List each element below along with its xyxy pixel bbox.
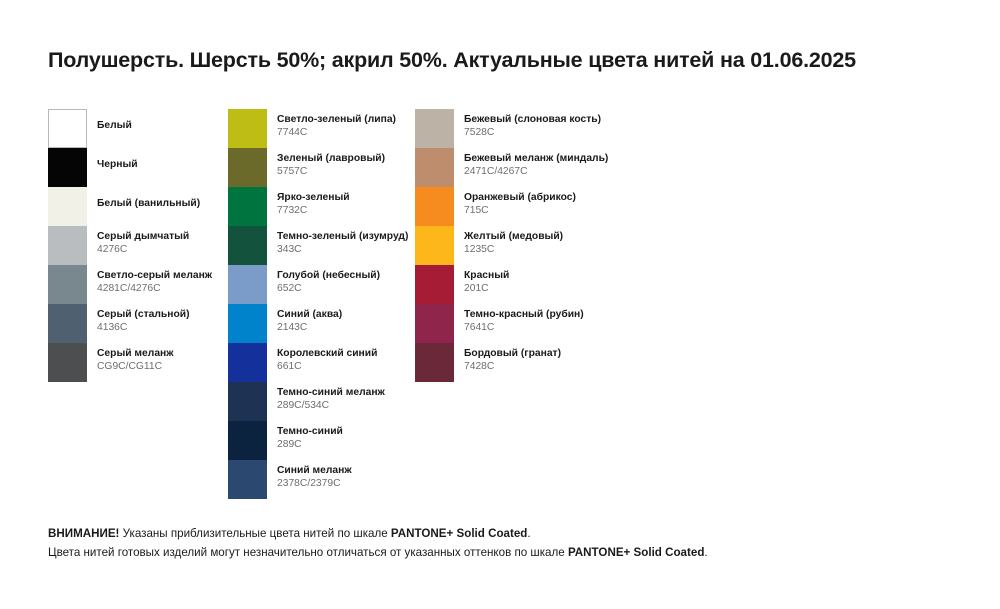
swatch-text: Темно-синий289C [277, 425, 427, 451]
swatch-row[interactable]: Королевский синий661C [228, 343, 418, 382]
page-title: Полушерсть. Шерсть 50%; акрил 50%. Актуа… [48, 48, 968, 73]
swatch-row[interactable]: Синий (аква)2143C [228, 304, 418, 343]
swatch-chip[interactable] [415, 343, 454, 382]
swatch-row[interactable]: Синий меланж2378C/2379C [228, 460, 418, 499]
swatch-pantone-code: 2143C [277, 321, 427, 334]
swatch-name: Ярко-зеленый [277, 191, 427, 204]
swatch-chip[interactable] [48, 343, 87, 382]
swatch-text: Серый меланжCG9C/CG11C [97, 347, 247, 373]
swatch-pantone-code: 2471C/4267C [464, 165, 614, 178]
swatch-text: Белый [97, 113, 247, 132]
swatch-name: Серый (стальной) [97, 308, 247, 321]
swatch-name: Бордовый (гранат) [464, 347, 614, 360]
swatch-column-greens-blues: Светло-зеленый (липа)7744CЗеленый (лавро… [228, 109, 418, 499]
swatch-name: Темно-зеленый (изумруд) [277, 230, 427, 243]
swatch-text: Ярко-зеленый7732C [277, 191, 427, 217]
swatch-name: Королевский синий [277, 347, 427, 360]
swatch-text: Красный201C [464, 269, 614, 295]
swatch-chip[interactable] [228, 304, 267, 343]
swatch-pantone-code: 7641C [464, 321, 614, 334]
swatch-row[interactable]: Голубой (небесный)652C [228, 265, 418, 304]
swatch-text: Серый дымчатый4276C [97, 230, 247, 256]
swatch-chip[interactable] [228, 226, 267, 265]
swatch-text: Бежевый (слоновая кость)7528C [464, 113, 614, 139]
swatch-text: Темно-красный (рубин)7641C [464, 308, 614, 334]
swatch-chip[interactable] [415, 187, 454, 226]
swatch-name: Светло-серый меланж [97, 269, 247, 282]
swatch-row[interactable]: Темно-синий меланж289C/534C [228, 382, 418, 421]
swatch-name: Синий меланж [277, 464, 427, 477]
swatch-chip[interactable] [415, 226, 454, 265]
swatch-name: Бежевый (слоновая кость) [464, 113, 614, 126]
swatch-text: Синий меланж2378C/2379C [277, 464, 427, 490]
swatch-name: Бежевый меланж (миндаль) [464, 152, 614, 165]
swatch-row[interactable]: Бежевый (слоновая кость)7528C [415, 109, 615, 148]
swatch-chip[interactable] [228, 460, 267, 499]
swatch-row[interactable]: Темно-синий289C [228, 421, 418, 460]
swatch-pantone-code: 4281C/4276C [97, 282, 247, 295]
swatch-row[interactable]: Ярко-зеленый7732C [228, 187, 418, 226]
swatch-chip[interactable] [48, 226, 87, 265]
swatch-row[interactable]: Темно-красный (рубин)7641C [415, 304, 615, 343]
swatch-text: Белый (ванильный) [97, 191, 247, 210]
swatch-name: Темно-синий меланж [277, 386, 427, 399]
swatch-chip[interactable] [48, 109, 87, 148]
swatch-pantone-code: 4276C [97, 243, 247, 256]
swatch-pantone-code: 289C/534C [277, 399, 427, 412]
swatch-chip[interactable] [48, 148, 87, 187]
swatch-chip[interactable] [228, 109, 267, 148]
swatch-row[interactable]: Зеленый (лавровый)5757C [228, 148, 418, 187]
swatch-name: Белый [97, 113, 247, 132]
swatch-text: Голубой (небесный)652C [277, 269, 427, 295]
swatch-chip[interactable] [48, 187, 87, 226]
swatch-row[interactable]: Белый [48, 109, 233, 148]
swatch-text: Оранжевый (абрикос)715C [464, 191, 614, 217]
swatch-pantone-code: 652C [277, 282, 427, 295]
swatch-chip[interactable] [415, 109, 454, 148]
swatch-row[interactable]: Бордовый (гранат)7428C [415, 343, 615, 382]
swatch-name: Зеленый (лавровый) [277, 152, 427, 165]
swatch-text: Темно-синий меланж289C/534C [277, 386, 427, 412]
swatch-name: Светло-зеленый (липа) [277, 113, 427, 126]
swatch-name: Серый дымчатый [97, 230, 247, 243]
swatch-pantone-code: 7428C [464, 360, 614, 373]
swatch-chip[interactable] [228, 382, 267, 421]
swatch-chip[interactable] [228, 343, 267, 382]
swatch-chip[interactable] [415, 265, 454, 304]
swatch-row[interactable]: Бежевый меланж (миндаль)2471C/4267C [415, 148, 615, 187]
swatch-text: Желтый (медовый)1235C [464, 230, 614, 256]
color-chart-page: Полушерсть. Шерсть 50%; акрил 50%. Актуа… [0, 0, 1000, 609]
swatch-text: Синий (аква)2143C [277, 308, 427, 334]
footer-line-1-text: Указаны приблизительные цвета нитей по ш… [119, 527, 390, 540]
swatch-pantone-code: 7528C [464, 126, 614, 139]
swatch-chip[interactable] [48, 304, 87, 343]
swatch-chip[interactable] [415, 148, 454, 187]
swatch-text: Королевский синий661C [277, 347, 427, 373]
swatch-name: Голубой (небесный) [277, 269, 427, 282]
footer-line-1-tail: . [527, 527, 530, 540]
swatch-chip[interactable] [228, 265, 267, 304]
swatch-text: Светло-зеленый (липа)7744C [277, 113, 427, 139]
swatch-row[interactable]: Серый меланжCG9C/CG11C [48, 343, 233, 382]
swatch-pantone-code: 5757C [277, 165, 427, 178]
swatch-text: Зеленый (лавровый)5757C [277, 152, 427, 178]
swatch-pantone-code: 1235C [464, 243, 614, 256]
footer-disclaimer: ВНИМАНИЕ! Указаны приблизительные цвета … [48, 524, 958, 562]
footer-line-2-text: Цвета нитей готовых изделий могут незнач… [48, 546, 568, 559]
swatch-pantone-code: 7744C [277, 126, 427, 139]
swatch-pantone-code: 715C [464, 204, 614, 217]
swatch-chip[interactable] [415, 304, 454, 343]
swatch-pantone-code: 7732C [277, 204, 427, 217]
swatch-text: Серый (стальной)4136C [97, 308, 247, 334]
swatch-text: Светло-серый меланж4281C/4276C [97, 269, 247, 295]
swatch-pantone-code: 2378C/2379C [277, 477, 427, 490]
swatch-row[interactable]: Серый дымчатый4276C [48, 226, 233, 265]
footer-line-1: ВНИМАНИЕ! Указаны приблизительные цвета … [48, 524, 958, 543]
swatch-name: Темно-синий [277, 425, 427, 438]
footer-line-2-tail: . [704, 546, 707, 559]
swatch-name: Желтый (медовый) [464, 230, 614, 243]
swatch-chip[interactable] [48, 265, 87, 304]
swatch-chip[interactable] [228, 421, 267, 460]
swatch-column-warm-reds: Бежевый (слоновая кость)7528CБежевый мел… [415, 109, 615, 382]
swatch-name: Черный [97, 152, 247, 171]
pantone-brand-2: PANTONE+ Solid Coated [568, 546, 704, 559]
pantone-brand-1: PANTONE+ Solid Coated [391, 527, 527, 540]
swatch-text: Бежевый меланж (миндаль)2471C/4267C [464, 152, 614, 178]
swatch-pantone-code: 201C [464, 282, 614, 295]
swatch-name: Серый меланж [97, 347, 247, 360]
swatch-row[interactable]: Светло-серый меланж4281C/4276C [48, 265, 233, 304]
swatch-pantone-code: 4136C [97, 321, 247, 334]
swatch-row[interactable]: Темно-зеленый (изумруд)343C [228, 226, 418, 265]
swatch-name: Оранжевый (абрикос) [464, 191, 614, 204]
swatch-chip[interactable] [228, 148, 267, 187]
swatch-text: Черный [97, 152, 247, 171]
swatch-name: Красный [464, 269, 614, 282]
swatch-pantone-code: CG9C/CG11C [97, 360, 247, 373]
swatch-text: Бордовый (гранат)7428C [464, 347, 614, 373]
swatch-pantone-code: 343C [277, 243, 427, 256]
swatch-row[interactable]: Красный201C [415, 265, 615, 304]
swatch-row[interactable]: Серый (стальной)4136C [48, 304, 233, 343]
swatch-row[interactable]: Светло-зеленый (липа)7744C [228, 109, 418, 148]
attention-label: ВНИМАНИЕ! [48, 527, 119, 540]
swatch-chip[interactable] [228, 187, 267, 226]
swatch-pantone-code: 289C [277, 438, 427, 451]
swatch-row[interactable]: Оранжевый (абрикос)715C [415, 187, 615, 226]
swatch-text: Темно-зеленый (изумруд)343C [277, 230, 427, 256]
swatch-name: Белый (ванильный) [97, 191, 247, 210]
swatch-column-neutrals: БелыйЧерныйБелый (ванильный)Серый дымчат… [48, 109, 233, 382]
swatch-name: Темно-красный (рубин) [464, 308, 614, 321]
footer-line-2: Цвета нитей готовых изделий могут незнач… [48, 543, 958, 562]
swatch-row[interactable]: Черный [48, 148, 233, 187]
swatch-row[interactable]: Желтый (медовый)1235C [415, 226, 615, 265]
swatch-pantone-code: 661C [277, 360, 427, 373]
swatch-row[interactable]: Белый (ванильный) [48, 187, 233, 226]
swatch-name: Синий (аква) [277, 308, 427, 321]
